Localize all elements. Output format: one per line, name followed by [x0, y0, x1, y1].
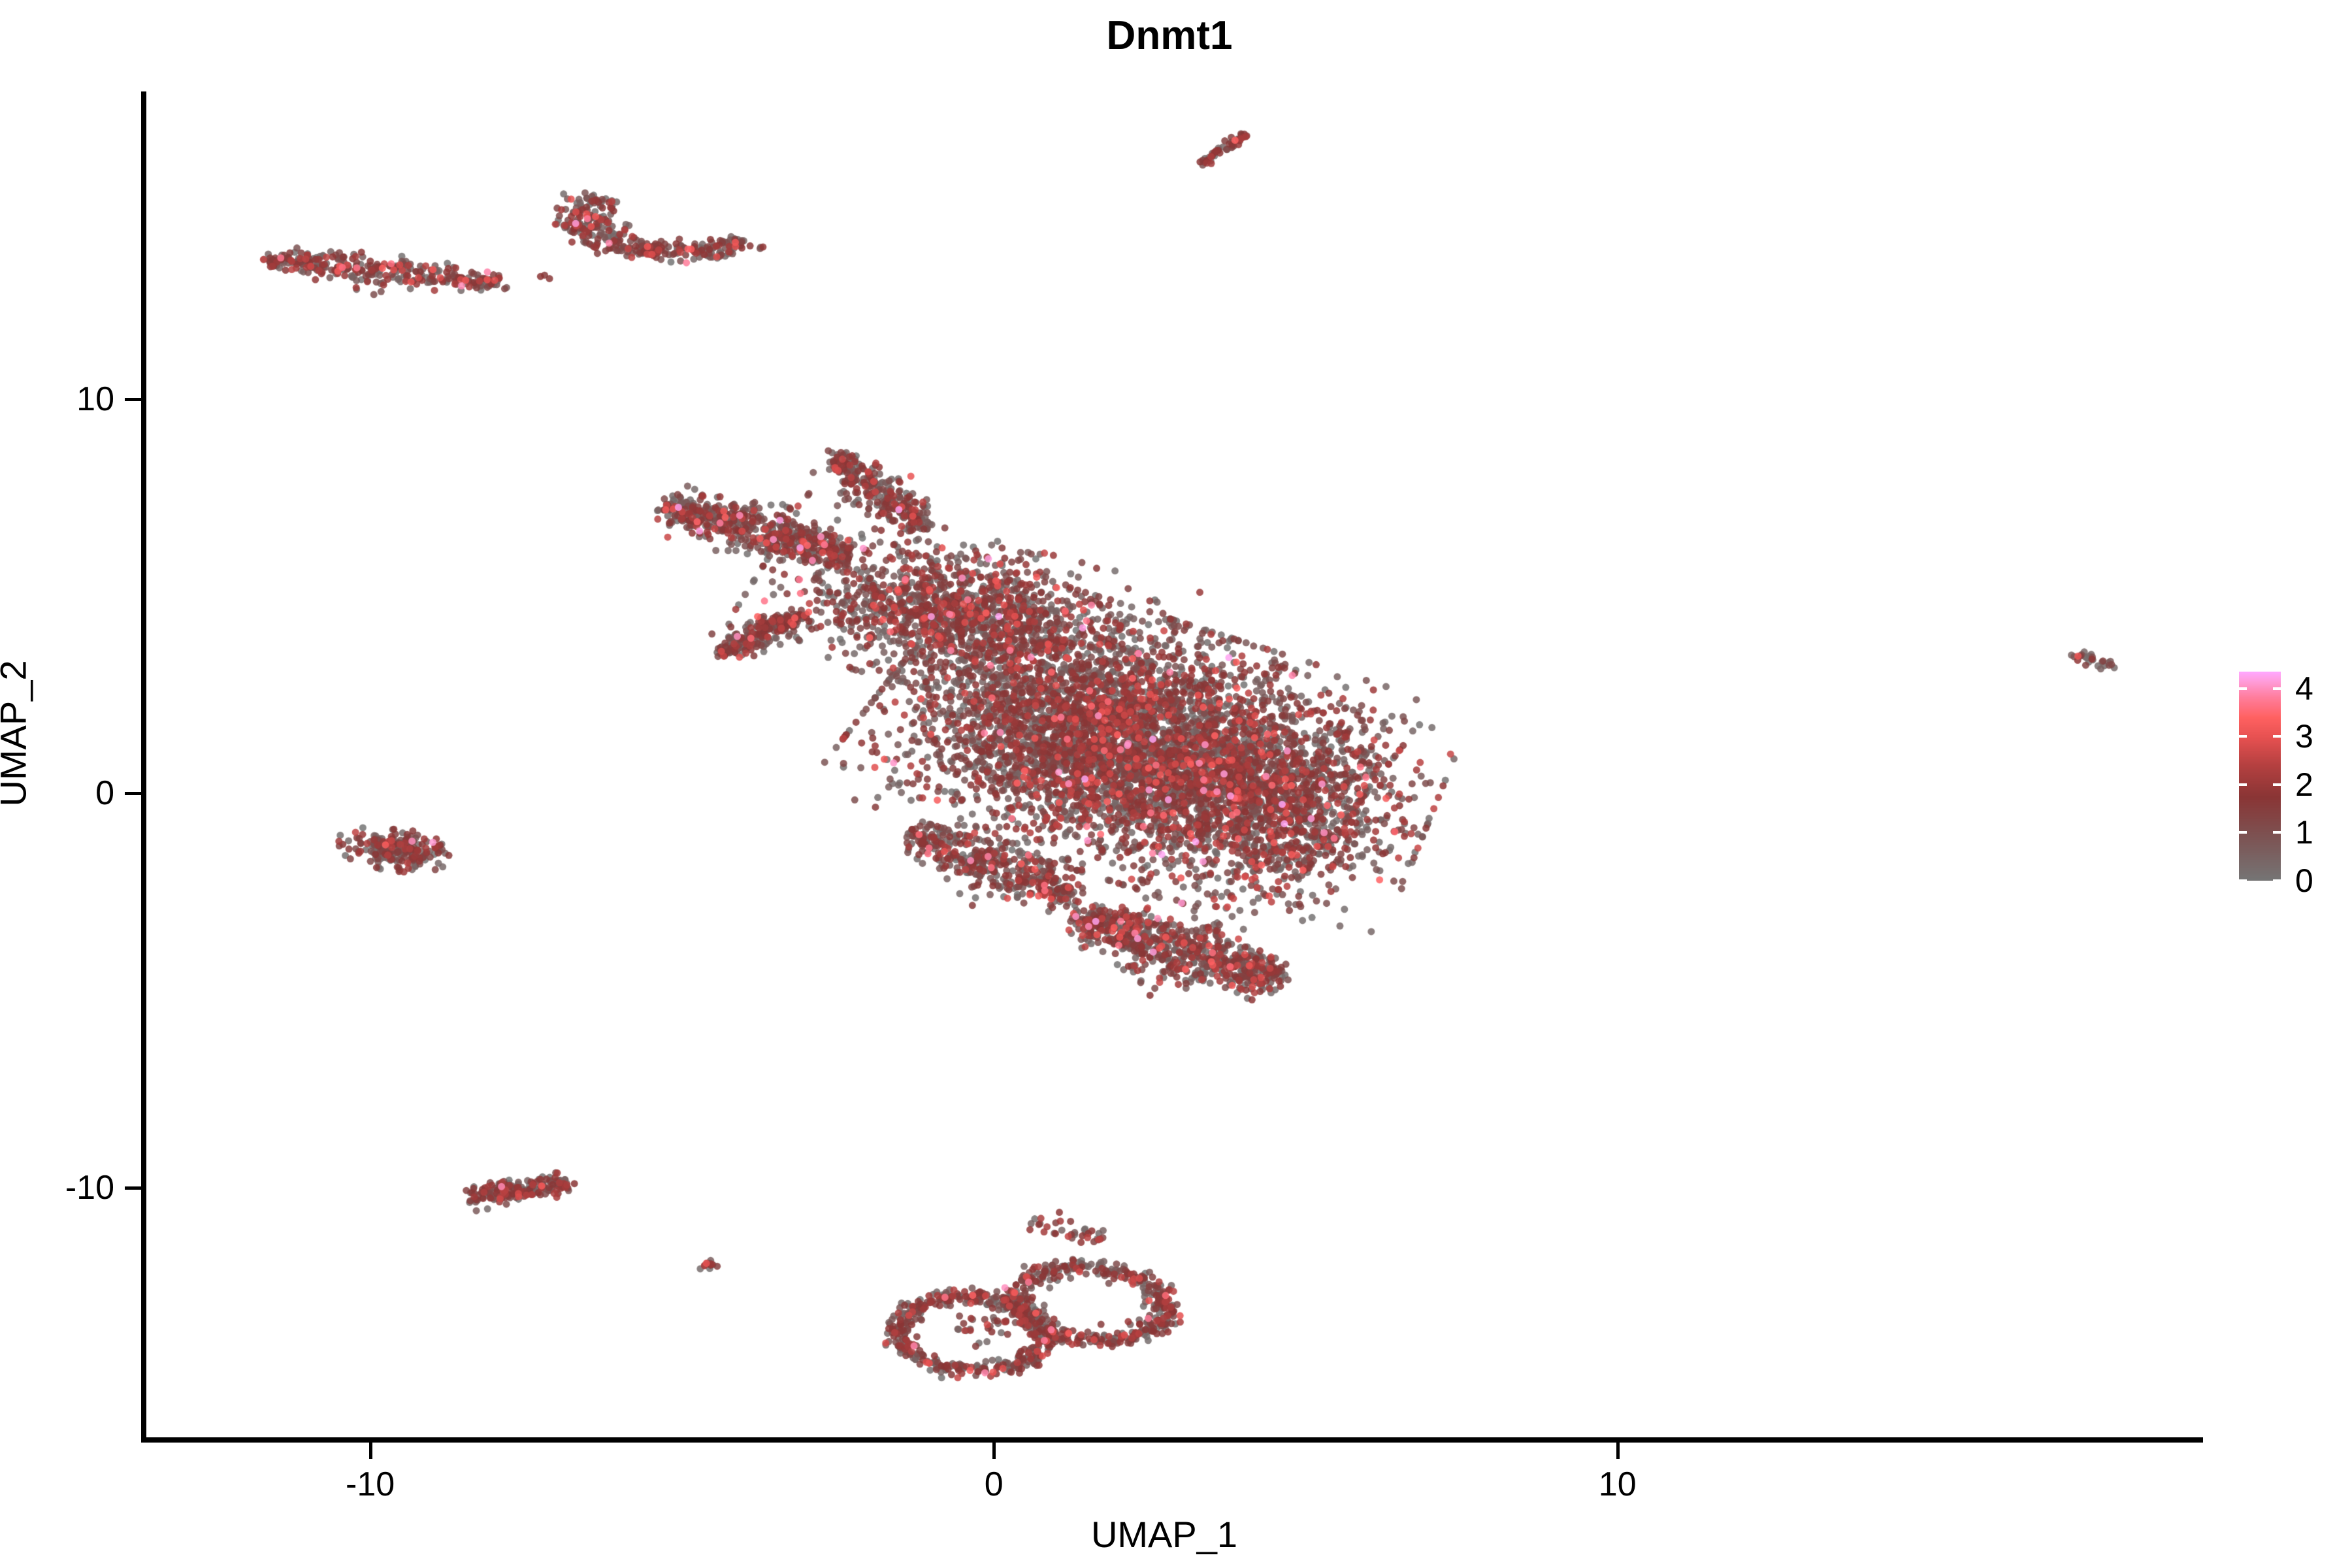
legend-tick-mark	[2273, 879, 2281, 882]
legend-tick-mark	[2239, 831, 2247, 834]
legend-tick-mark	[2239, 879, 2247, 882]
legend-tick-label: 2	[2295, 766, 2313, 804]
y-tick-label: 0	[95, 774, 114, 813]
color-legend-gradient	[2239, 672, 2281, 881]
x-axis-title: UMAP_1	[0, 1513, 2340, 1556]
umap-feature-plot: Dnmt1 -10010 -10010 UMAP_1 UMAP_2 01234	[0, 0, 2352, 1568]
legend-tick-mark	[2273, 831, 2281, 834]
plot-panel	[146, 91, 2204, 1440]
x-axis-line	[141, 1437, 2203, 1443]
legend-tick-label: 1	[2295, 813, 2313, 851]
legend-tick-mark	[2273, 735, 2281, 738]
legend-tick-label: 3	[2295, 717, 2313, 755]
y-axis-line	[141, 91, 146, 1443]
scatter-plot-canvas	[146, 91, 2204, 1440]
x-tick-label: 10	[1599, 1465, 1637, 1504]
page-title: Dnmt1	[0, 12, 2345, 60]
legend-tick-label: 4	[2295, 670, 2313, 708]
legend-tick-mark	[2239, 735, 2247, 738]
color-legend-bar	[2239, 672, 2281, 881]
legend-tick-mark	[2239, 687, 2247, 690]
y-tick-mark	[125, 1186, 141, 1190]
y-axis-title: UMAP_2	[0, 472, 35, 995]
y-tick-label: 10	[76, 380, 114, 419]
y-tick-mark	[125, 792, 141, 795]
x-tick-mark	[992, 1443, 996, 1459]
legend-tick-label: 0	[2295, 862, 2313, 900]
color-legend: 01234	[2239, 672, 2337, 887]
legend-tick-mark	[2273, 783, 2281, 786]
x-tick-mark	[1616, 1443, 1620, 1459]
legend-tick-mark	[2273, 687, 2281, 690]
y-tick-mark	[125, 398, 141, 401]
y-tick-label: -10	[65, 1168, 114, 1207]
x-tick-mark	[369, 1443, 372, 1459]
legend-tick-mark	[2239, 783, 2247, 786]
x-tick-label: 0	[985, 1465, 1004, 1504]
x-tick-label: -10	[346, 1465, 395, 1504]
